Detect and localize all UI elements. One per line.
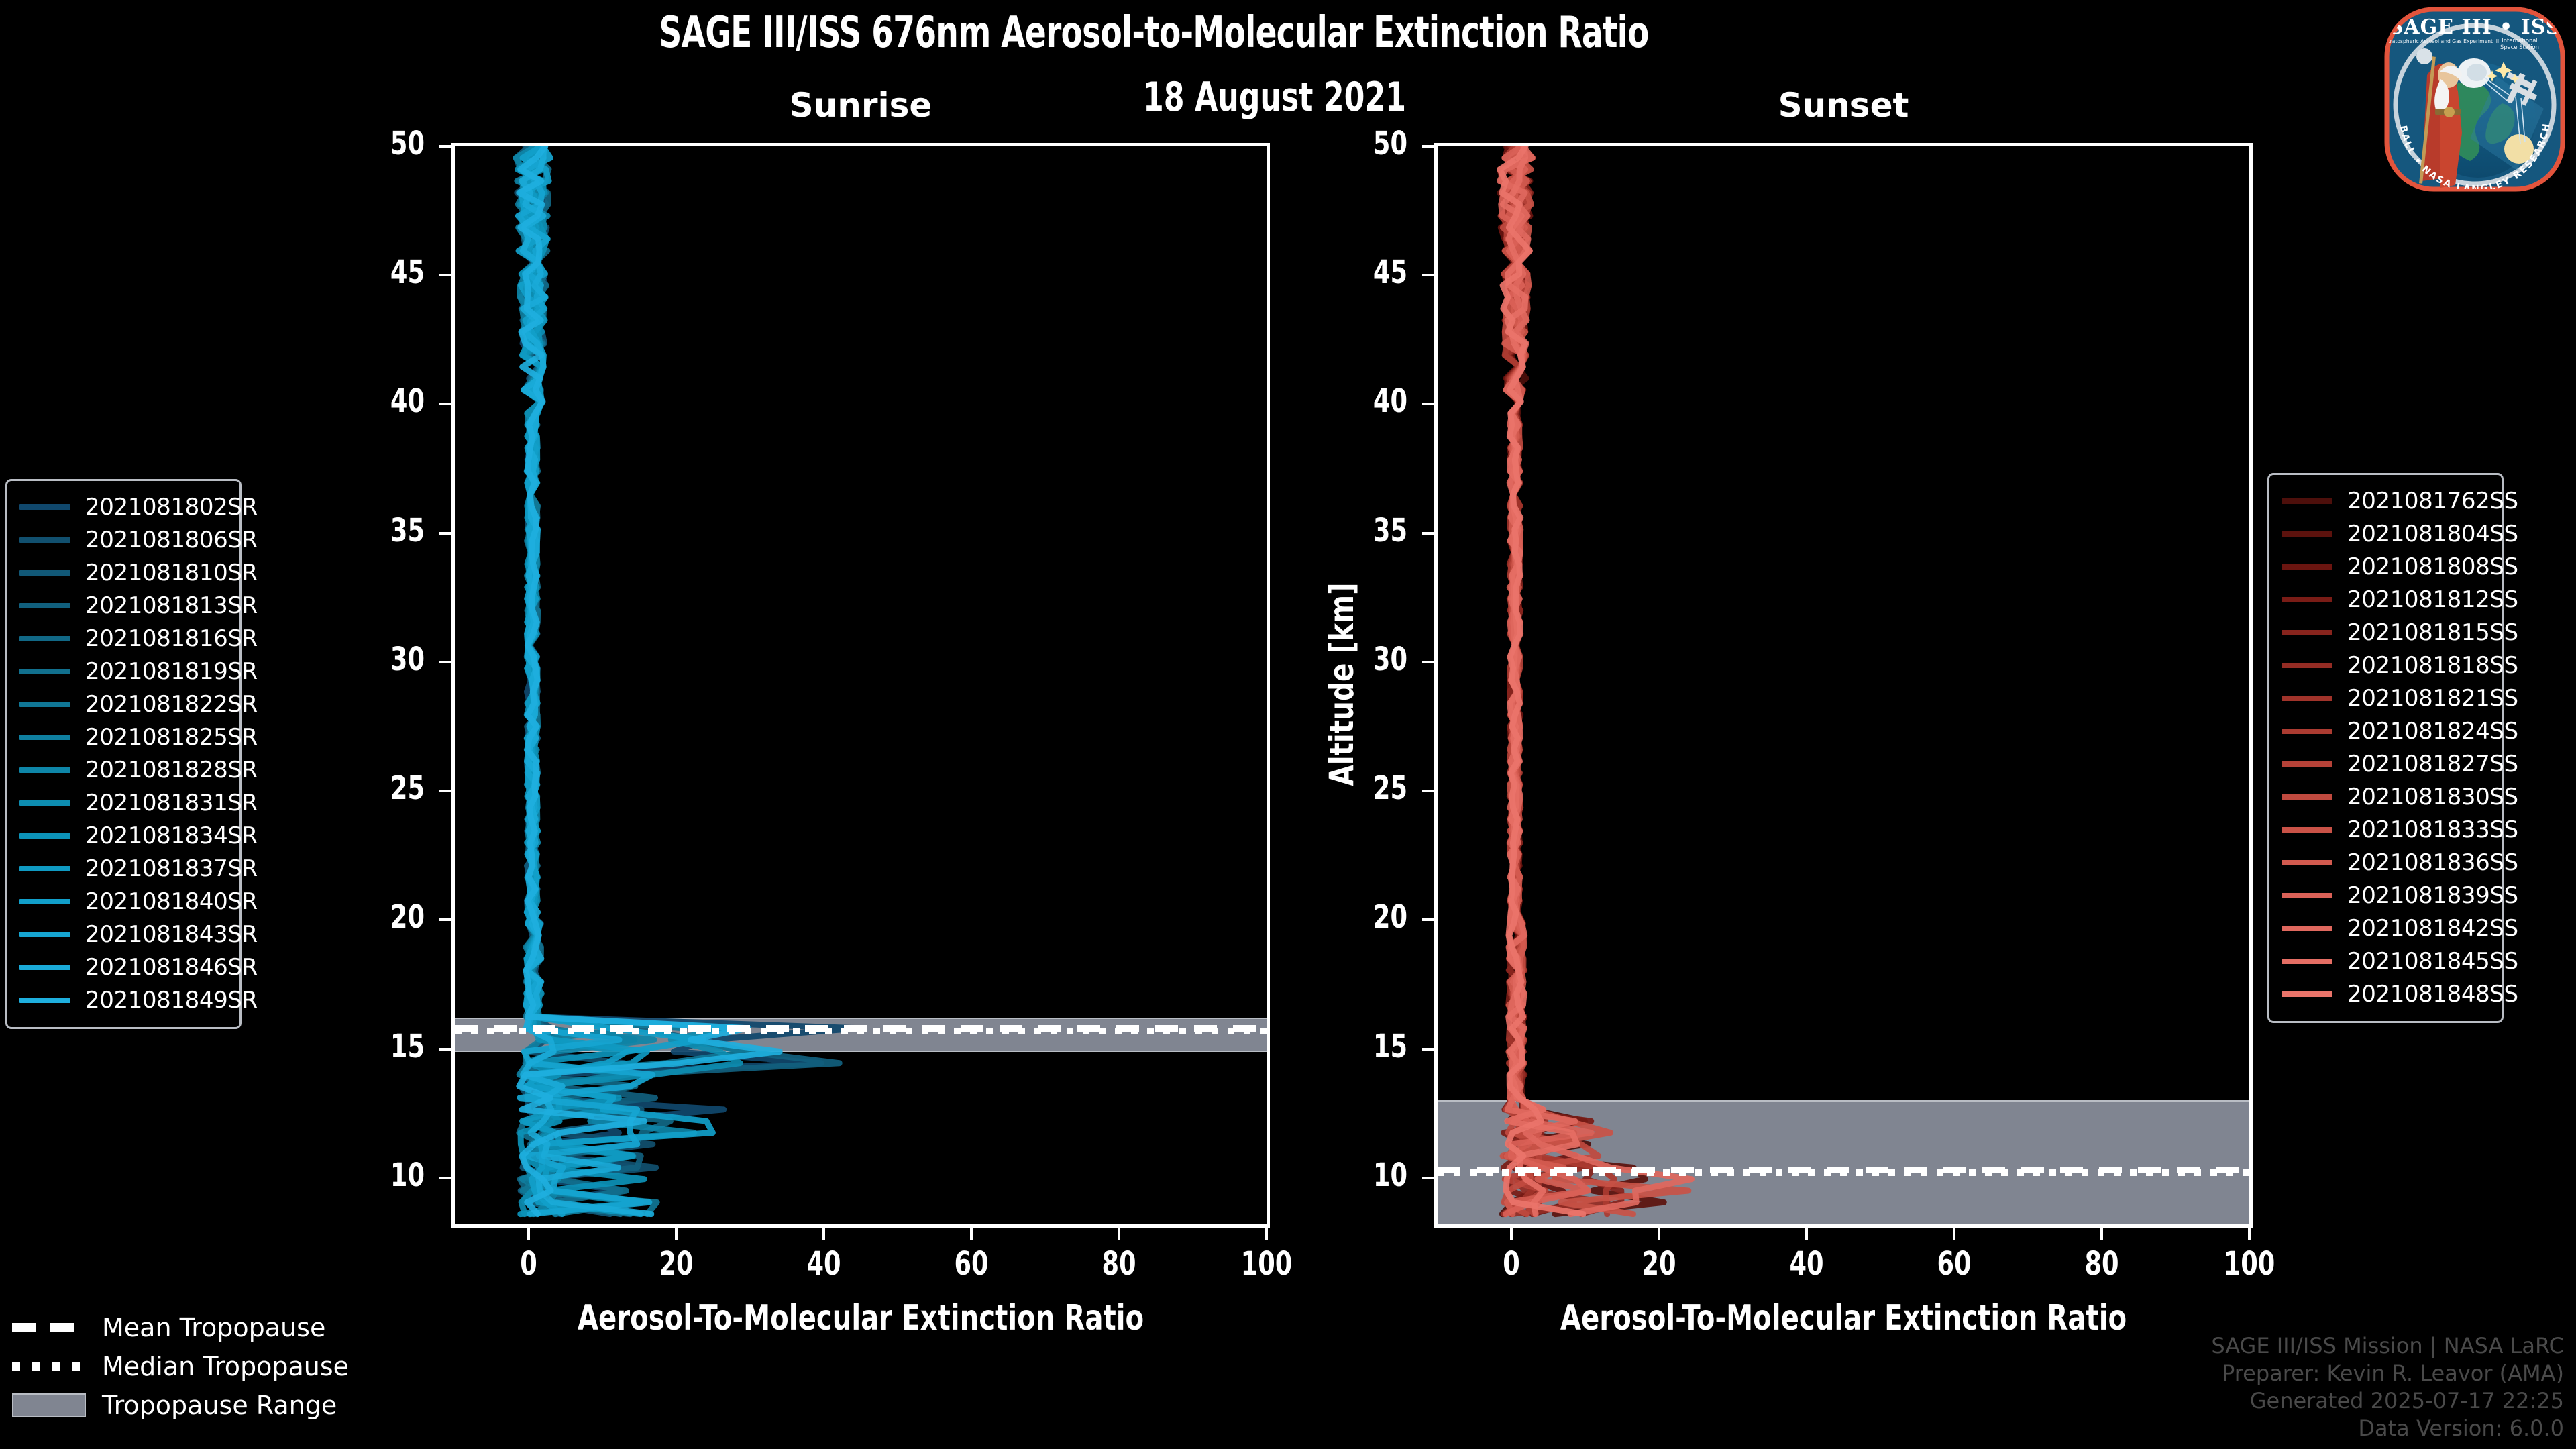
y-tick-label: 40 — [1316, 382, 1407, 420]
legend-series-label: 2021081816SR — [85, 625, 258, 652]
x-axis-title-sunrise: Aerosol-To-Molecular Extinction Ratio — [508, 1298, 1212, 1338]
legend-series-label: 2021081819SR — [85, 658, 258, 685]
legend-sunrise[interactable]: 2021081802SR2021081806SR2021081810SR2021… — [5, 479, 241, 1029]
series-color-swatch-icon — [2282, 794, 2332, 800]
legend-series-label: 2021081837SR — [85, 855, 258, 882]
x-tick — [2100, 1228, 2103, 1240]
legend-item-median-tropopause: Median Tropopause — [12, 1347, 361, 1386]
legend-series-label: 2021081828SR — [85, 757, 258, 784]
panel-title-sunrise: Sunrise — [451, 86, 1270, 125]
legend-series-label: 2021081849SR — [85, 987, 258, 1014]
series-color-swatch-icon — [19, 965, 70, 970]
y-tick-label: 10 — [1316, 1157, 1407, 1194]
footer-line-2: Generated 2025-07-17 22:25 — [2211, 1387, 2564, 1415]
chart-sunrise[interactable] — [451, 143, 1270, 1228]
y-tick-label: 45 — [333, 254, 425, 291]
legend-item[interactable]: 2021081816SR — [19, 622, 225, 655]
y-tick — [439, 661, 451, 663]
legend-item[interactable]: 2021081806SR — [19, 523, 225, 556]
legend-item[interactable]: 2021081813SR — [19, 589, 225, 622]
tropopause-legend: Mean Tropopause Median Tropopause Tropop… — [12, 1308, 361, 1425]
y-tick-label: 50 — [333, 125, 425, 162]
legend-item[interactable]: 2021081839SS — [2282, 879, 2487, 912]
legend-series-label: 2021081762SS — [2347, 488, 2518, 515]
y-tick-label: 50 — [1316, 125, 1407, 162]
y-tick — [439, 145, 451, 148]
legend-series-label: 2021081825SR — [85, 724, 258, 751]
y-tick-label: 35 — [1316, 512, 1407, 549]
y-tick — [1422, 274, 1434, 276]
series-color-swatch-icon — [19, 504, 70, 510]
legend-item[interactable]: 2021081825SR — [19, 720, 225, 753]
y-tick-label: 15 — [333, 1028, 425, 1065]
series-color-swatch-icon — [19, 603, 70, 608]
legend-item[interactable]: 2021081819SR — [19, 655, 225, 688]
x-tick — [822, 1228, 825, 1240]
median-tropopause-dot-icon — [12, 1362, 86, 1371]
legend-item[interactable]: 2021081842SS — [2282, 912, 2487, 945]
legend-series-label: 2021081830SS — [2347, 784, 2518, 810]
x-tick-label: 20 — [1613, 1245, 1705, 1283]
series-color-swatch-icon — [19, 636, 70, 641]
series-lines — [1438, 146, 2249, 1224]
legend-series-label: 2021081834SR — [85, 822, 258, 849]
series-color-swatch-icon — [2282, 893, 2332, 898]
svg-text:International: International — [2502, 37, 2537, 44]
legend-series-label: 2021081839SS — [2347, 882, 2518, 909]
series-color-swatch-icon — [19, 932, 70, 937]
legend-series-label: 2021081831SR — [85, 790, 258, 816]
legend-item[interactable]: 2021081834SR — [19, 819, 225, 852]
series-color-swatch-icon — [19, 899, 70, 904]
legend-item[interactable]: 2021081837SR — [19, 852, 225, 885]
series-color-swatch-icon — [2282, 729, 2332, 734]
series-color-swatch-icon — [19, 702, 70, 707]
x-tick — [2248, 1228, 2251, 1240]
legend-item[interactable]: 2021081840SR — [19, 885, 225, 918]
series-color-swatch-icon — [2282, 860, 2332, 865]
legend-item[interactable]: 2021081845SS — [2282, 945, 2487, 977]
legend-series-label: 2021081833SS — [2347, 816, 2518, 843]
x-tick — [1265, 1228, 1268, 1240]
legend-item-mean-tropopause: Mean Tropopause — [12, 1308, 361, 1347]
x-tick-label: 100 — [1221, 1245, 1312, 1283]
series-color-swatch-icon — [19, 833, 70, 839]
legend-item[interactable]: 2021081830SS — [2282, 780, 2487, 813]
series-color-swatch-icon — [19, 570, 70, 576]
x-tick — [1510, 1228, 1513, 1240]
legend-item-tropopause-range: Tropopause Range — [12, 1386, 361, 1425]
y-tick-label: 25 — [333, 769, 425, 807]
x-tick-label: 0 — [1466, 1245, 1557, 1283]
x-tick-label: 100 — [2204, 1245, 2295, 1283]
legend-item[interactable]: 2021081827SS — [2282, 747, 2487, 780]
series-color-swatch-icon — [2282, 959, 2332, 964]
series-color-swatch-icon — [19, 669, 70, 674]
legend-series-label: 2021081808SS — [2347, 553, 2518, 580]
series-color-swatch-icon — [2282, 991, 2332, 997]
footer-line-0: SAGE III/ISS Mission | NASA LaRC — [2211, 1332, 2564, 1360]
y-tick — [439, 1048, 451, 1051]
x-tick — [970, 1228, 973, 1240]
legend-item[interactable]: 2021081808SS — [2282, 550, 2487, 583]
series-color-swatch-icon — [19, 537, 70, 543]
legend-item[interactable]: 2021081762SS — [2282, 484, 2487, 517]
series-color-swatch-icon — [2282, 531, 2332, 537]
y-tick-label: 20 — [333, 898, 425, 936]
y-tick-label: 40 — [333, 382, 425, 420]
median-tropopause-line — [455, 1028, 1267, 1034]
y-tick-label: 15 — [1316, 1028, 1407, 1065]
legend-series-label: 2021081827SS — [2347, 751, 2518, 777]
panel-title-sunset: Sunset — [1434, 86, 2253, 125]
series-color-swatch-icon — [2282, 696, 2332, 701]
legend-series-label: 2021081812SS — [2347, 586, 2518, 613]
legend-series-label: 2021081802SR — [85, 494, 258, 521]
y-tick-label: 10 — [333, 1157, 425, 1194]
footer-credits: SAGE III/ISS Mission | NASA LaRCPreparer… — [2211, 1332, 2564, 1442]
legend-item[interactable]: 2021081818SS — [2282, 649, 2487, 682]
legend-item[interactable]: 2021081822SR — [19, 688, 225, 720]
footer-line-3: Data Version: 6.0.0 — [2211, 1415, 2564, 1442]
legend-label-tropopause-range: Tropopause Range — [102, 1391, 337, 1420]
legend-series-label: 2021081804SS — [2347, 521, 2518, 547]
svg-text:Space Station: Space Station — [2500, 44, 2539, 50]
legend-series-label: 2021081813SR — [85, 592, 258, 619]
mean-tropopause-dash-icon — [12, 1323, 86, 1332]
x-tick-label: 80 — [2056, 1245, 2147, 1283]
x-tick-label: 40 — [778, 1245, 869, 1283]
y-tick — [1422, 918, 1434, 921]
x-tick — [1118, 1228, 1120, 1240]
x-tick — [1658, 1228, 1660, 1240]
legend-item[interactable]: 2021081802SR — [19, 490, 225, 523]
y-tick — [439, 274, 451, 276]
median-tropopause-line — [1438, 1169, 2249, 1176]
series-color-swatch-icon — [2282, 761, 2332, 767]
series-color-swatch-icon — [2282, 498, 2332, 504]
series-color-swatch-icon — [2282, 597, 2332, 602]
legend-series-label: 2021081836SS — [2347, 849, 2518, 876]
legend-series-label: 2021081848SS — [2347, 981, 2518, 1008]
legend-series-label: 2021081806SR — [85, 527, 258, 553]
x-tick — [1805, 1228, 1808, 1240]
y-tick-label: 20 — [1316, 898, 1407, 936]
legend-item[interactable]: 2021081846SR — [19, 951, 225, 983]
series-color-swatch-icon — [2282, 564, 2332, 570]
chart-sunset[interactable] — [1434, 143, 2253, 1228]
y-tick — [1422, 402, 1434, 405]
legend-series-label: 2021081810SR — [85, 559, 258, 586]
legend-series-label: 2021081840SR — [85, 888, 258, 915]
y-tick — [439, 918, 451, 921]
legend-item[interactable]: 2021081815SS — [2282, 616, 2487, 649]
series-color-swatch-icon — [2282, 827, 2332, 833]
legend-item[interactable]: 2021081810SR — [19, 556, 225, 589]
svg-text:Stratospheric Aerosol and Gas: Stratospheric Aerosol and Gas Experiment… — [2385, 38, 2499, 44]
series-color-swatch-icon — [19, 866, 70, 871]
series-color-swatch-icon — [19, 735, 70, 740]
series-color-swatch-icon — [19, 767, 70, 773]
legend-item[interactable]: 2021081821SS — [2282, 682, 2487, 714]
y-tick-label: 30 — [333, 641, 425, 678]
x-tick-label: 20 — [631, 1245, 722, 1283]
x-tick-label: 60 — [926, 1245, 1017, 1283]
legend-series-label: 2021081815SS — [2347, 619, 2518, 646]
y-tick-label: 35 — [333, 512, 425, 549]
legend-series-label: 2021081842SS — [2347, 915, 2518, 942]
y-tick — [1422, 1177, 1434, 1179]
legend-item[interactable]: 2021081836SS — [2282, 846, 2487, 879]
x-tick-label: 60 — [1909, 1245, 2000, 1283]
y-tick — [1422, 145, 1434, 148]
x-tick — [1953, 1228, 1955, 1240]
legend-item[interactable]: 2021081804SS — [2282, 517, 2487, 550]
legend-item[interactable]: 2021081812SS — [2282, 583, 2487, 616]
y-tick — [439, 790, 451, 792]
y-tick — [1422, 661, 1434, 663]
legend-label-mean-tropopause: Mean Tropopause — [102, 1313, 325, 1342]
legend-series-label: 2021081846SR — [85, 954, 258, 981]
legend-sunset[interactable]: 2021081762SS2021081804SS2021081808SS2021… — [2267, 473, 2504, 1023]
x-tick-label: 0 — [483, 1245, 574, 1283]
tropopause-range-swatch-icon — [12, 1393, 86, 1417]
y-tick — [439, 532, 451, 535]
x-tick-label: 80 — [1073, 1245, 1165, 1283]
legend-item[interactable]: 2021081828SR — [19, 753, 225, 786]
x-tick-label: 40 — [1761, 1245, 1852, 1283]
x-axis-title-sunset: Aerosol-To-Molecular Extinction Ratio — [1491, 1298, 2195, 1338]
legend-item[interactable]: 2021081831SR — [19, 786, 225, 819]
legend-label-median-tropopause: Median Tropopause — [102, 1352, 349, 1381]
series-color-swatch-icon — [2282, 926, 2332, 931]
y-tick — [439, 402, 451, 405]
y-tick — [1422, 532, 1434, 535]
sage-iii-iss-logo: SAGE III • ISS Stratospheric Aerosol and… — [2377, 3, 2572, 197]
series-color-swatch-icon — [19, 800, 70, 806]
x-tick — [675, 1228, 678, 1240]
x-tick — [527, 1228, 530, 1240]
y-tick — [439, 1177, 451, 1179]
y-tick-label: 45 — [1316, 254, 1407, 291]
svg-text:SAGE III • ISS: SAGE III • ISS — [2389, 15, 2561, 39]
legend-series-label: 2021081822SR — [85, 691, 258, 718]
series-lines — [455, 146, 1267, 1224]
legend-item[interactable]: 2021081833SS — [2282, 813, 2487, 846]
legend-series-label: 2021081824SS — [2347, 718, 2518, 745]
y-tick — [1422, 790, 1434, 792]
y-axis-title-sunset: Altitude [km] — [1322, 563, 1361, 805]
page-title: SAGE III/ISS 676nm Aerosol-to-Molecular … — [208, 8, 2100, 58]
legend-item[interactable]: 2021081824SS — [2282, 714, 2487, 747]
series-color-swatch-icon — [2282, 630, 2332, 635]
y-tick — [1422, 1048, 1434, 1051]
legend-item[interactable]: 2021081849SR — [19, 983, 225, 1016]
legend-series-label: 2021081843SR — [85, 921, 258, 948]
legend-item[interactable]: 2021081843SR — [19, 918, 225, 951]
legend-series-label: 2021081845SS — [2347, 948, 2518, 975]
footer-line-1: Preparer: Kevin R. Leavor (AMA) — [2211, 1360, 2564, 1387]
series-color-swatch-icon — [2282, 663, 2332, 668]
series-color-swatch-icon — [19, 998, 70, 1003]
legend-item[interactable]: 2021081848SS — [2282, 977, 2487, 1010]
legend-series-label: 2021081818SS — [2347, 652, 2518, 679]
legend-series-label: 2021081821SS — [2347, 685, 2518, 712]
